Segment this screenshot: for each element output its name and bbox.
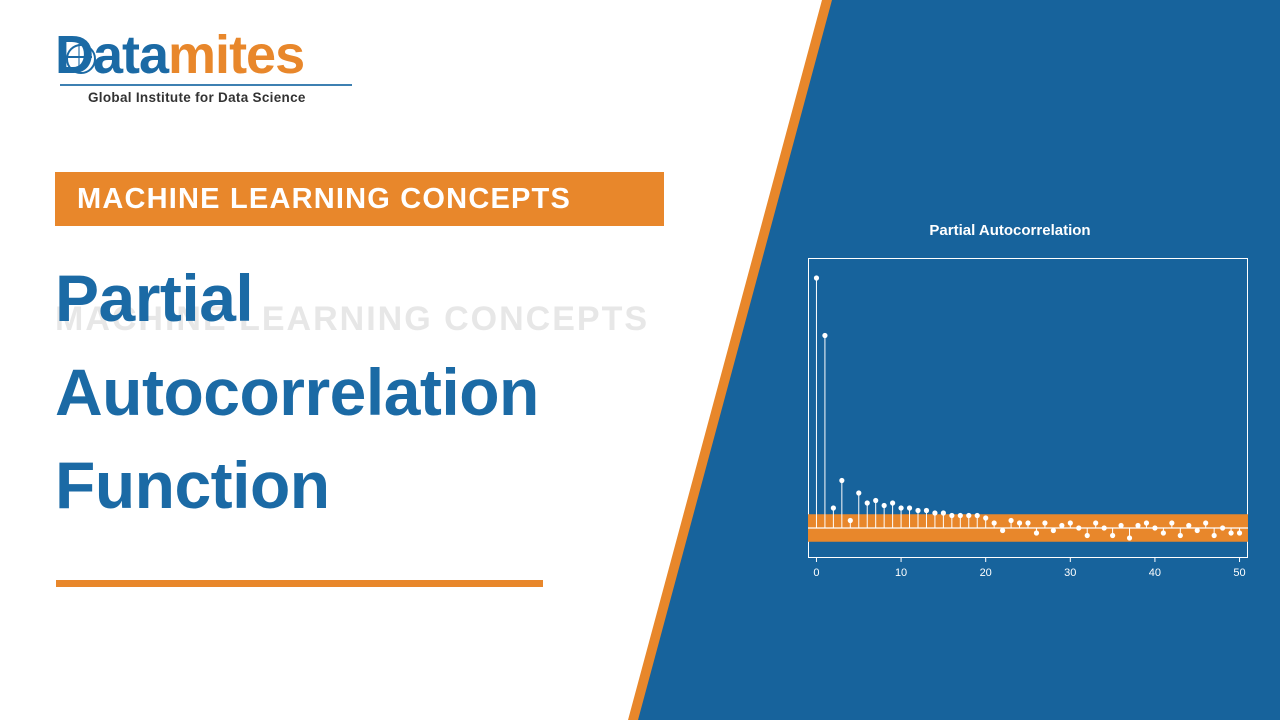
- logo-underline: [60, 84, 352, 86]
- slide-canvas: Datamites Global Institute for Data Scie…: [0, 0, 1280, 720]
- brand-logo: Datamites: [55, 28, 375, 82]
- slide-title: Partial Autocorrelation Function: [55, 252, 695, 533]
- pacf-chart: Partial Autocorrelation 0.00.20.40.60.81…: [760, 212, 1260, 632]
- svg-text:50: 50: [1233, 567, 1245, 579]
- svg-text:40: 40: [1149, 567, 1161, 579]
- pacf-plot-svg: 0.00.20.40.60.81.001020304050: [808, 258, 1248, 598]
- brand-tagline: Global Institute for Data Science: [88, 90, 306, 105]
- logo-text-mites: mites: [168, 25, 304, 85]
- svg-text:20: 20: [980, 567, 992, 579]
- slide-title-line-3: Function: [55, 439, 695, 533]
- eyebrow-banner: MACHINE LEARNING CONCEPTS: [55, 172, 664, 226]
- svg-text:30: 30: [1064, 567, 1076, 579]
- slide-title-line-1: Partial: [55, 252, 695, 346]
- chart-title: Partial Autocorrelation: [760, 222, 1260, 239]
- logo-text-ata: ata: [93, 25, 168, 85]
- slide-title-line-2: Autocorrelation: [55, 346, 695, 440]
- title-underline-rule: [56, 580, 543, 587]
- svg-text:0: 0: [813, 567, 819, 579]
- globe-icon: [66, 44, 96, 74]
- plot-area: 0.00.20.40.60.81.001020304050: [808, 258, 1248, 598]
- svg-text:10: 10: [895, 567, 907, 579]
